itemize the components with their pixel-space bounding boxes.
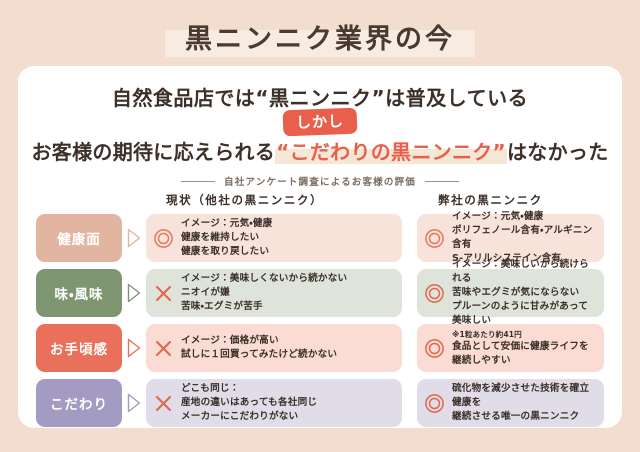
cell-spacer [402,214,417,262]
row-label-chip: お手頃感 [36,324,122,372]
cell-note: ※1粒あたり約41円 [452,329,596,340]
cell-text: 硫化物を減少させた技術を確立健康を 継続させる唯一の黒ニンニク [452,382,596,424]
row-label-chip: こだわり [36,379,122,427]
survey-caption-text: 自社アンケート調査によるお客様の評価 [224,174,416,188]
headline-line-2: お客様の期待に応えられる“こだわりの黒ニンニク”はなかった [18,136,622,165]
cell-text-block: イメージ：美味しくないから続かない ニオイが嫌 苦味・エグミが苦手 [181,272,347,314]
cell-text: イメージ：価格が高い 試しに１回買ってみたけど続かない [181,334,337,362]
cell-text-block: イメージ：価格が高い 試しに１回買ってみたけど続かない [181,334,337,362]
column-headers: 現状（他社の黒ニンニク） 弊社の黒ニンニク [18,192,622,212]
page-title-text: 黒ニンニク業界の今 [185,24,455,55]
cell-ours: イメージ：元気・健康 ポリフェノール含有・アルギニン含有 S-アリルシステイン含… [417,214,604,262]
cross-icon [153,338,174,359]
cell-text: どこも同じ： 産地の違いはあっても各社同じ メーカーにこだわりがない [181,382,317,424]
arrow-right-icon [122,324,146,372]
table-row: 味・風味イメージ：美味しくないから続かない ニオイが嫌 苦味・エグミが苦手イメー… [36,269,604,317]
page-title: 黒ニンニク業界の今 [165,20,475,60]
column-header-ours: 弊社の黒ニンニク [438,192,543,208]
however-badge: しかし [283,108,358,137]
survey-caption: 自社アンケート調査によるお客様の評価 [18,174,622,188]
cell-text-block: どこも同じ： 産地の違いはあっても各社同じ メーカーにこだわりがない [181,382,317,424]
table-row: 健康面イメージ：元気・健康 健康を維持したい 健康を取り戻したいイメージ：元気・… [36,214,604,262]
cell-ours: 硫化物を減少させた技術を確立健康を 継続させる唯一の黒ニンニク [417,379,604,427]
main-card: 自然食品店では“黒ニンニク”は普及している しかし お客様の期待に応えられる“こ… [18,66,622,428]
headline-line-2-post: はなかった [507,140,609,164]
table-row: お手頃感イメージ：価格が高い 試しに１回買ってみたけど続かない※1粒あたり約41… [36,324,604,372]
cell-spacer [402,379,417,427]
double-circle-icon [153,228,174,249]
cell-text: 食品として安価に健康ライフを継続しやすい [452,340,596,368]
cell-current: イメージ：元気・健康 健康を維持したい 健康を取り戻したい [146,214,402,262]
column-header-current: 現状（他社の黒ニンニク） [166,192,323,208]
double-circle-icon [424,393,445,414]
table-row: こだわりどこも同じ： 産地の違いはあっても各社同じ メーカーにこだわりがない硫化… [36,379,604,427]
divider-rule-left [181,181,215,182]
divider-rule-right [425,181,459,182]
cell-current: イメージ：美味しくないから続かない ニオイが嫌 苦味・エグミが苦手 [146,269,402,317]
cell-text: イメージ：元気・健康 健康を維持したい 健康を取り戻したい [181,217,272,259]
headline-line-1: 自然食品店では“黒ニンニク”は普及している [18,82,622,111]
arrow-right-icon [122,269,146,317]
arrow-right-icon [122,379,146,427]
headline-line-2-pre: お客様の期待に応えられる [32,140,276,164]
comparison-table: 健康面イメージ：元気・健康 健康を維持したい 健康を取り戻したいイメージ：元気・… [18,214,622,427]
cell-text-block: ※1粒あたり約41円食品として安価に健康ライフを継続しやすい [452,329,596,368]
cell-text-block: 硫化物を減少させた技術を確立健康を 継続させる唯一の黒ニンニク [452,382,596,424]
double-circle-icon [424,338,445,359]
cross-icon [153,393,174,414]
cell-ours: イメージ：美味しいから続けられる 苦味やエグミが気にならない プルーンのように甘… [417,269,604,317]
page-title-area: 黒ニンニク業界の今 [0,20,640,60]
cell-ours: ※1粒あたり約41円食品として安価に健康ライフを継続しやすい [417,324,604,372]
row-label-chip: 健康面 [36,214,122,262]
cell-text-block: イメージ：美味しいから続けられる 苦味やエグミが気にならない プルーンのように甘… [452,258,596,328]
cell-spacer [402,269,417,317]
cell-text: イメージ：美味しくないから続かない ニオイが嫌 苦味・エグミが苦手 [181,272,347,314]
row-label-chip: 味・風味 [36,269,122,317]
double-circle-icon [424,228,445,249]
headline-badge-row: しかし [18,111,622,133]
cross-icon [153,283,174,304]
cell-current: どこも同じ： 産地の違いはあっても各社同じ メーカーにこだわりがない [146,379,402,427]
double-circle-icon [424,283,445,304]
headline-accent-phrase: “こだわりの黒ニンニク” [275,140,507,164]
cell-text: イメージ：美味しいから続けられる 苦味やエグミが気にならない プルーンのように甘… [452,258,596,328]
arrow-right-icon [122,214,146,262]
cell-text-block: イメージ：元気・健康 健康を維持したい 健康を取り戻したい [181,217,272,259]
cell-current: イメージ：価格が高い 試しに１回買ってみたけど続かない [146,324,402,372]
cell-spacer [402,324,417,372]
